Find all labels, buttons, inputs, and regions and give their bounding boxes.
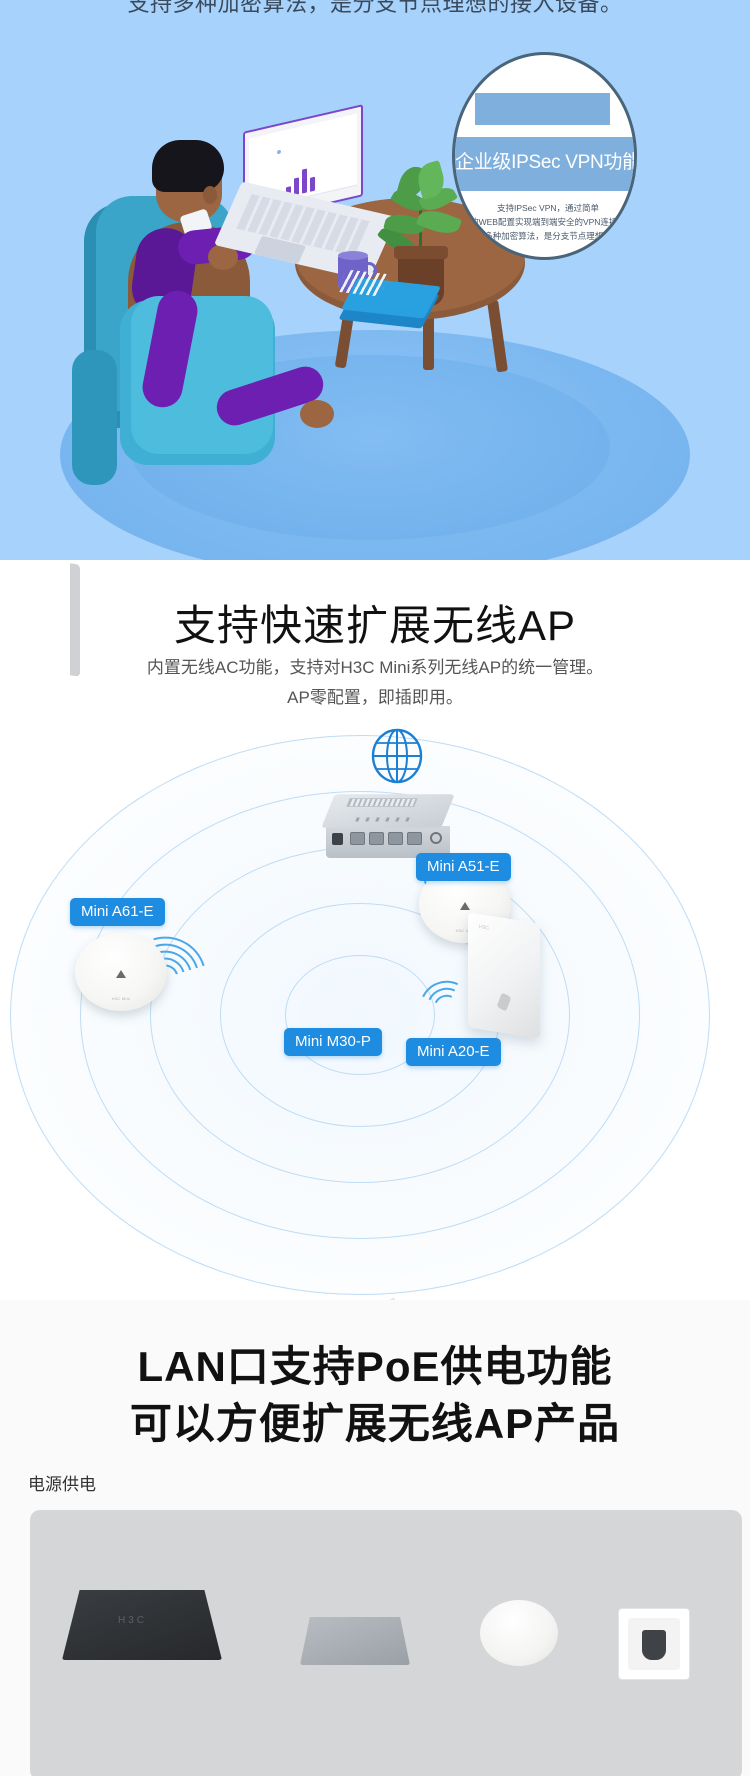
router-power-jack [332,833,343,845]
hero-vpn-section: 支持多种加密算法，是分支节点理想的接入设备。 [0,0,750,560]
wall-plate-logo: H3C [479,924,489,932]
wall-plate-port-slot [497,992,512,1011]
product-detail-page: 支持多种加密算法，是分支节点理想的接入设备。 [0,0,750,1776]
label-mini-a61-e[interactable]: Mini A61-E [70,898,165,926]
wall-plate-side [70,563,80,677]
label-mini-a51-e[interactable]: Mini A51-E [416,853,511,881]
wall-plate-ap-mini-a20e: H3C [468,912,540,1038]
ap-brand-mark: H3C Mini [112,996,131,1001]
ceiling-ap-left: H3C Mini [75,933,167,1011]
poe-title-line-2: 可以方便扩展无线AP产品 [0,1395,750,1452]
magnifier-body-line2: 的WEB配置实现端到端安全的VPN连接， [463,215,633,229]
router-reset-button [430,832,442,844]
poe-section: LAN口支持PoE供电功能 可以方便扩展无线AP产品 电源供电 H3C [0,1300,750,1776]
label-mini-m30-p[interactable]: Mini M30-P [284,1028,382,1056]
magnifier-bar-top [475,93,610,125]
poe-power-plug [642,1630,666,1660]
ap-subtitle-line-1: 内置无线AC功能，支持对H3C Mini系列无线AP的统一管理。 [0,653,750,683]
poe-device-brand-label: H3C [118,1615,147,1626]
ap-section-subtitle: 内置无线AC功能，支持对H3C Mini系列无线AP的统一管理。 AP零配置，即… [0,653,750,713]
poe-title-line-1: LAN口支持PoE供电功能 [0,1338,750,1395]
magnifier-body-line1: 支持IPSec VPN，通过简单 [463,201,633,215]
magnifier-body: 支持IPSec VPN，通过简单 的WEB配置实现端到端安全的VPN连接， 支持… [463,201,633,243]
ap-section-title: 支持快速扩展无线AP [0,592,750,653]
chair-armrest [72,350,117,485]
magnifier-title: 企业级IPSec VPN功能 [455,147,637,174]
ap-expansion-section: 支持快速扩展无线AP 内置无线AC功能，支持对H3C Mini系列无线AP的统一… [0,560,750,1300]
plant-pot-rim [394,246,448,259]
poe-device-router [300,1617,410,1665]
router-vent-grille [346,798,418,807]
router-led-row [355,818,413,822]
router-ethernet-ports [350,832,422,845]
person-hand [300,400,334,428]
poe-caption: 电源供电 [28,1470,96,1495]
person-hair [152,140,224,192]
mug-rim [338,251,368,260]
hero-top-text: 支持多种加密算法，是分支节点理想的接入设备。 [0,0,750,18]
globe-internet-icon [371,728,423,784]
person-ear [203,186,217,204]
label-mini-a20-e[interactable]: Mini A20-E [406,1038,501,1066]
magnifier-callout: 企业级IPSec VPN功能 支持IPSec VPN，通过简单 的WEB配置实现… [452,52,637,260]
ap-subtitle-line-2: AP零配置，即插即用。 [0,683,750,713]
poe-section-title: LAN口支持PoE供电功能 可以方便扩展无线AP产品 [0,1338,750,1452]
magnifier-body-line3: 支持多种加密算法，是分支节点理想的接入 [463,229,633,243]
poe-device-ceiling-ap [480,1600,558,1666]
